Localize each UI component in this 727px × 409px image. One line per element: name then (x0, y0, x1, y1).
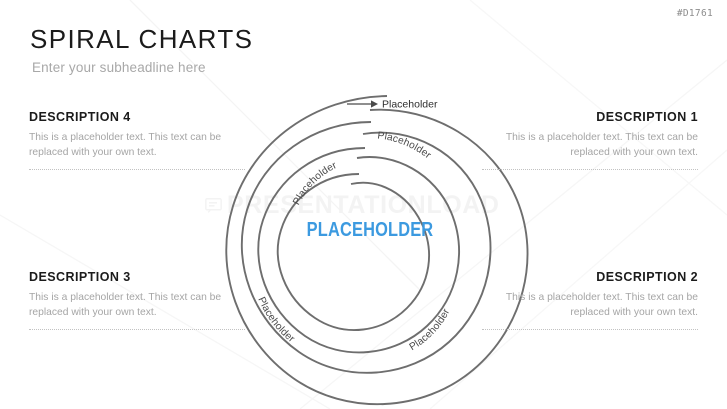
description-divider-3 (29, 329, 245, 331)
description-block-2[interactable]: DESCRIPTION 2 This is a placeholder text… (482, 270, 698, 331)
start-arrow-head (371, 100, 378, 107)
description-body-3[interactable]: This is a placeholder text. This text ca… (29, 291, 245, 320)
description-divider-4 (29, 169, 245, 171)
page-subtitle[interactable]: Enter your subheadline here (32, 60, 253, 75)
description-block-3[interactable]: DESCRIPTION 3 This is a placeholder text… (29, 270, 245, 331)
description-divider-1 (482, 169, 698, 171)
description-block-4[interactable]: DESCRIPTION 4 This is a placeholder text… (29, 110, 245, 171)
arc-label-bottom-left[interactable]: Placeholder (255, 295, 296, 345)
page-title: SPIRAL CHARTS (30, 26, 253, 53)
description-block-1[interactable]: DESCRIPTION 1 This is a placeholder text… (482, 110, 698, 171)
arc-label-inner-left[interactable]: Placeholder (291, 160, 339, 207)
document-id: #D1761 (677, 8, 713, 19)
slide-canvas: #D1761 SPIRAL CHARTS Enter your subheadl… (0, 0, 727, 409)
description-divider-2 (482, 329, 698, 331)
arc-label-bottom-right[interactable]: Placeholder (408, 307, 453, 353)
description-title-3: DESCRIPTION 3 (29, 270, 245, 284)
description-body-4[interactable]: This is a placeholder text. This text ca… (29, 131, 245, 160)
spiral-start-label[interactable]: Placeholder (382, 99, 438, 111)
description-title-1: DESCRIPTION 1 (482, 110, 698, 124)
description-body-1[interactable]: This is a placeholder text. This text ca… (482, 131, 698, 160)
description-title-4: DESCRIPTION 4 (29, 110, 245, 124)
description-body-2[interactable]: This is a placeholder text. This text ca… (482, 291, 698, 320)
start-arrow-group: Placeholder (347, 99, 438, 111)
slide-header: SPIRAL CHARTS Enter your subheadline her… (30, 26, 253, 75)
description-title-2: DESCRIPTION 2 (482, 270, 698, 284)
